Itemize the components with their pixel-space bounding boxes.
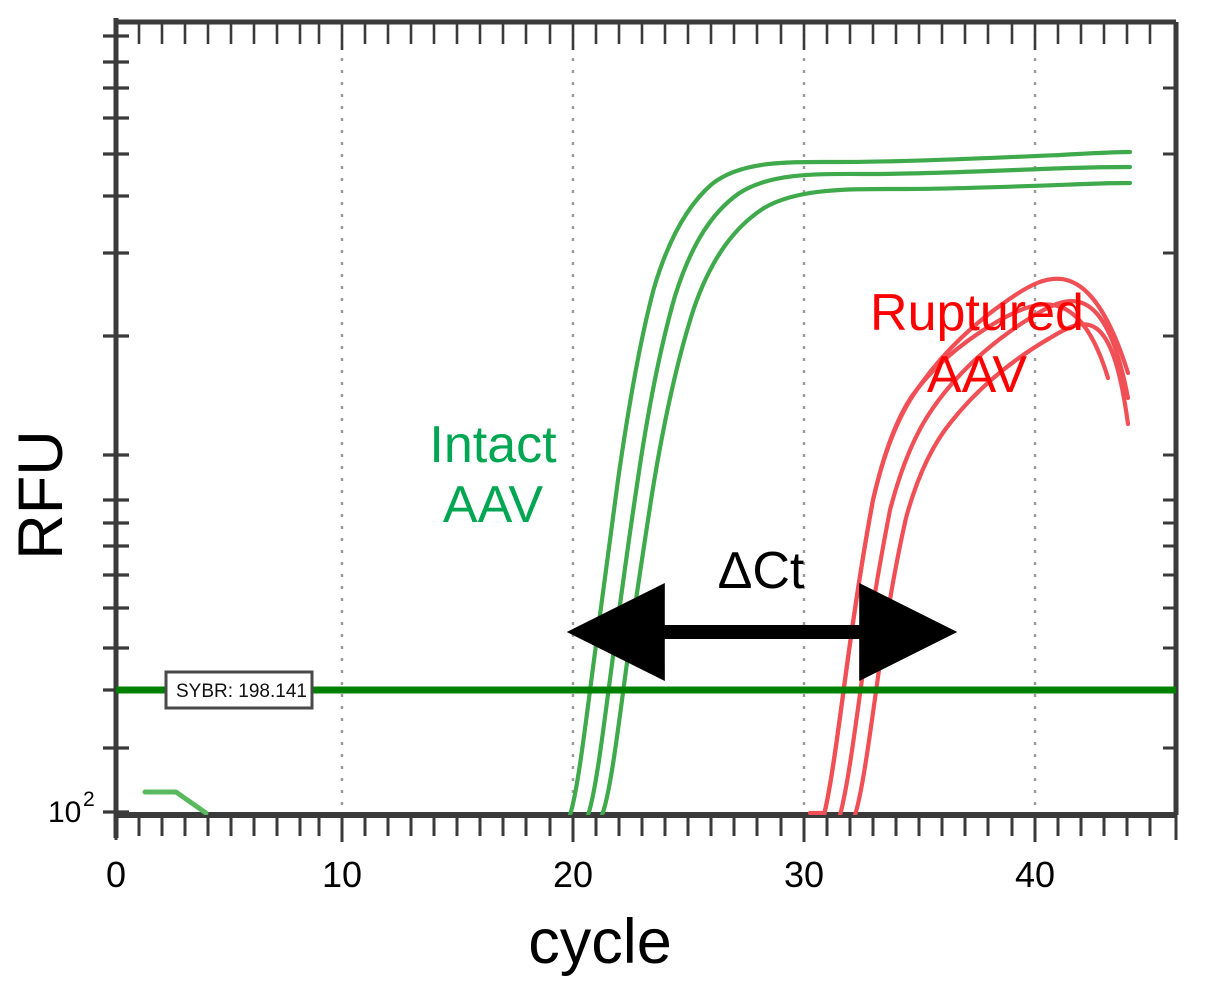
ruptured-aav-label-line2: AAV: [927, 346, 1028, 404]
y-tick-exponent: 2: [83, 788, 95, 811]
threshold-label[interactable]: SYBR: 198.141: [166, 672, 312, 708]
x-tick-label-40: 40: [1015, 854, 1055, 895]
y-axis-title: RFU: [6, 430, 76, 559]
x-tick-label-20: 20: [553, 854, 593, 895]
intact-aav-label-line2: AAV: [443, 476, 544, 534]
qpcr-amplification-plot: SYBR: 198.141 Intact AAV Ruptured AAV ΔC…: [0, 0, 1210, 1003]
threshold-label-text: SYBR: 198.141: [176, 681, 307, 702]
x-tick-label-0: 0: [106, 854, 126, 895]
x-tick-label-10: 10: [322, 854, 362, 895]
ruptured-aav-label-line1: Ruptured: [870, 284, 1084, 342]
intact-aav-label-line1: Intact: [429, 416, 557, 474]
plot-background: [0, 0, 1210, 1003]
x-tick-label-30: 30: [784, 854, 824, 895]
delta-ct-label: ΔCt: [718, 542, 805, 600]
y-tick-base: 10: [48, 796, 81, 829]
x-axis-title: cycle: [528, 907, 672, 977]
